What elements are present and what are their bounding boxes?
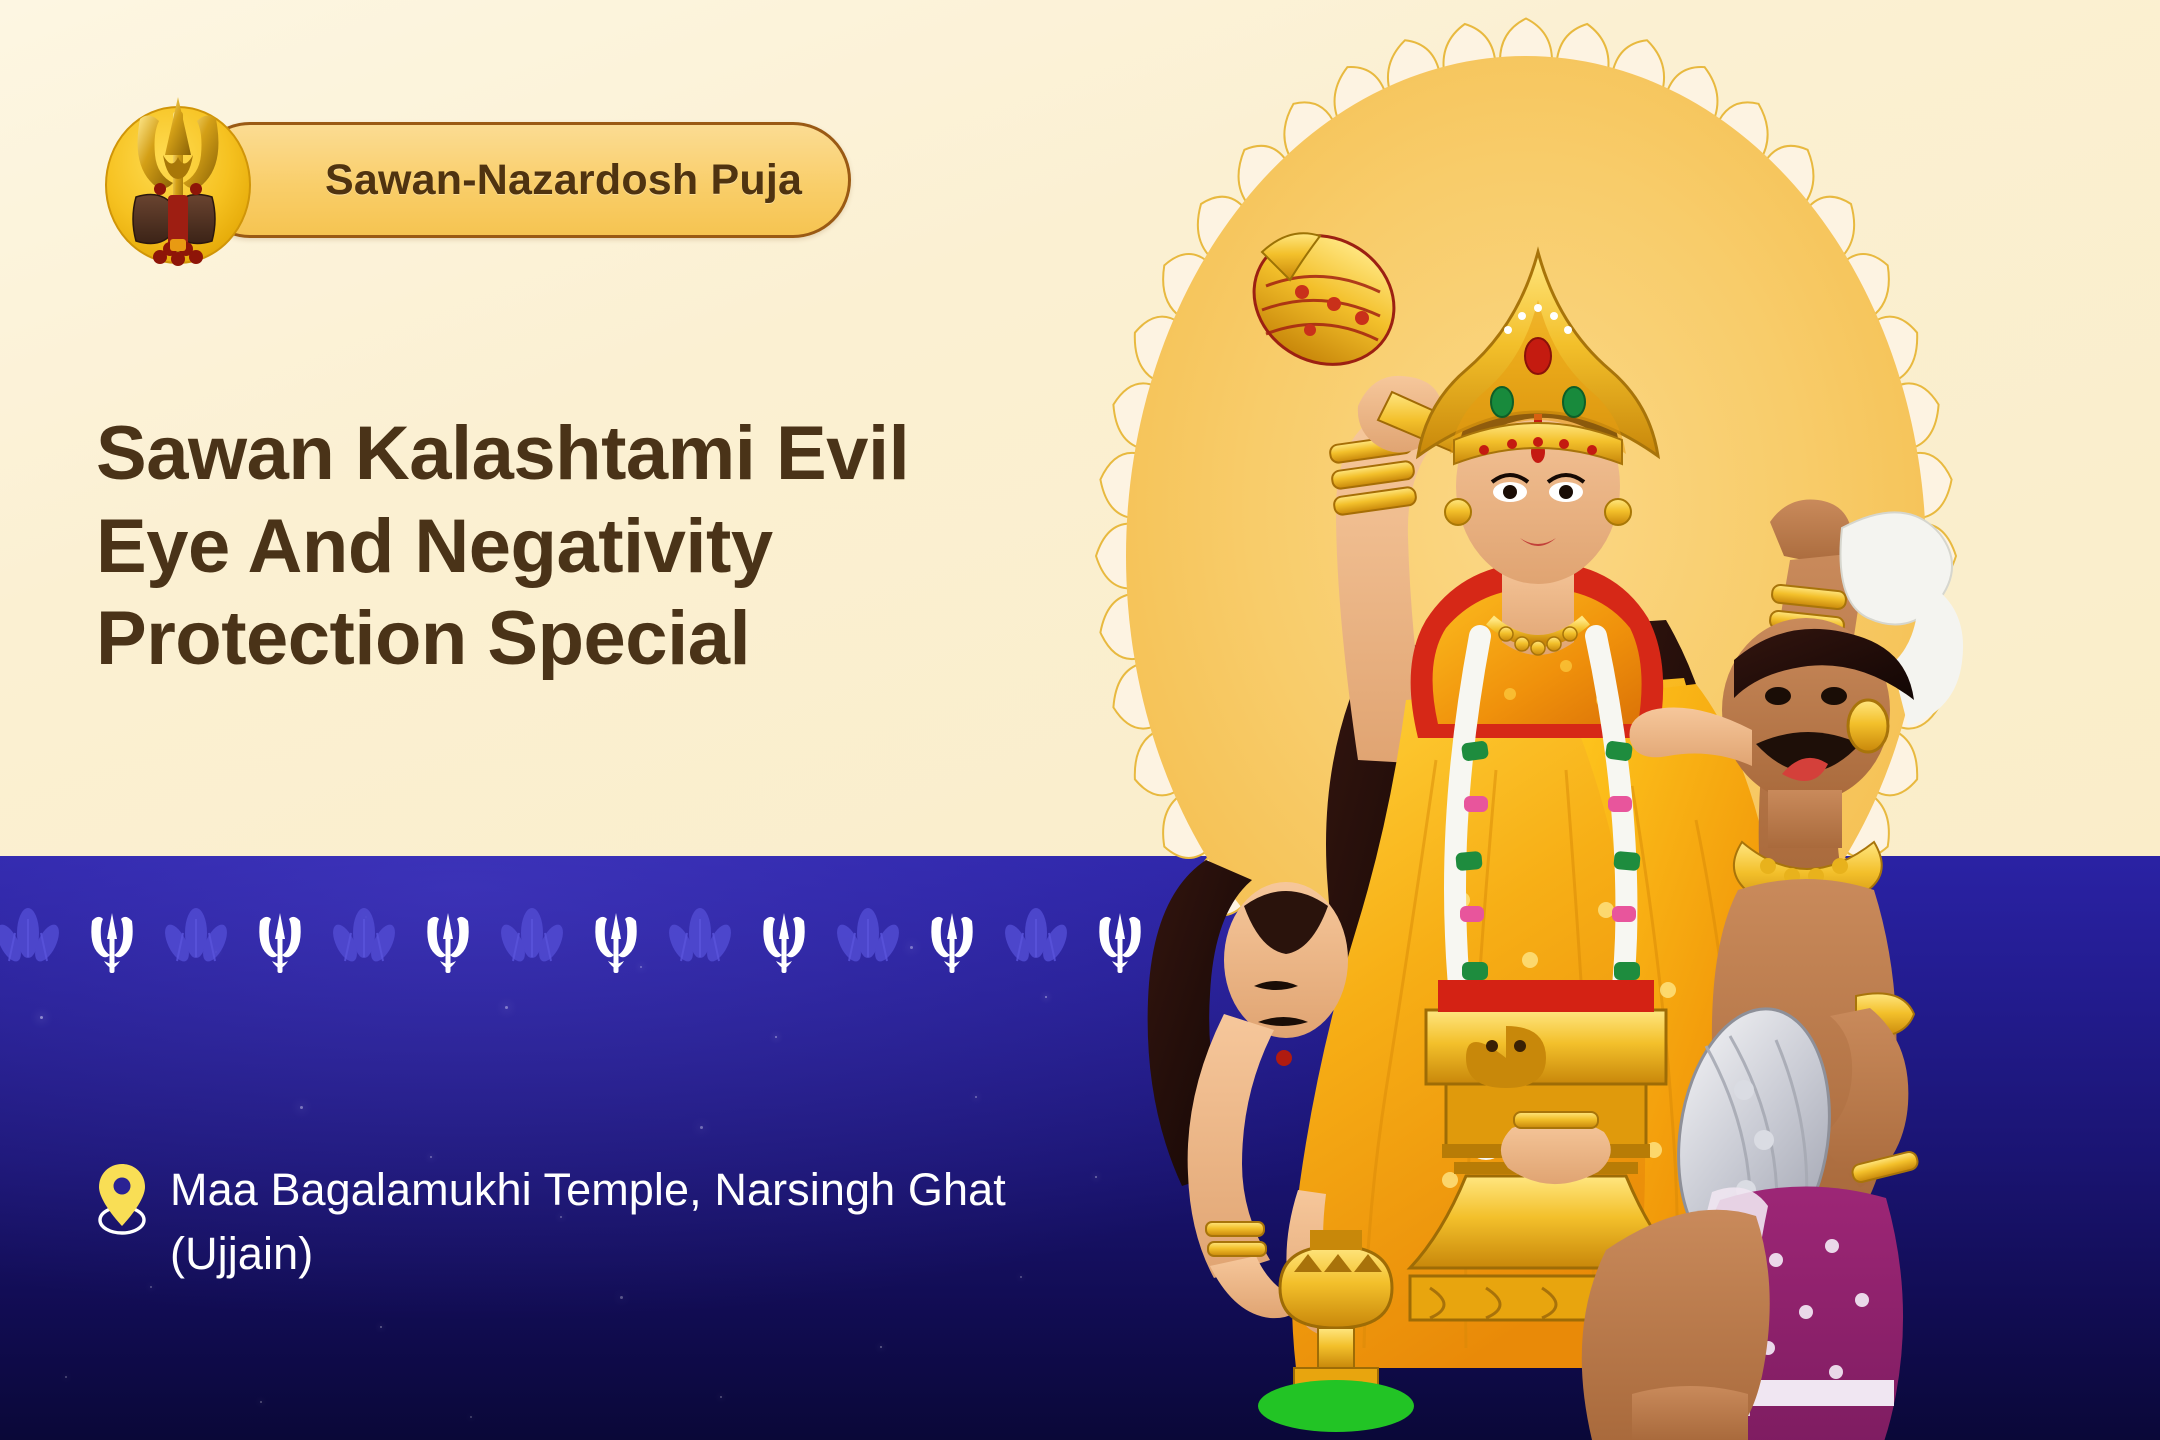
border-motif — [658, 884, 742, 984]
puja-badge-pill[interactable]: Sawan-Nazardosh Puja — [192, 122, 851, 238]
border-motif — [490, 884, 574, 984]
border-motif — [994, 884, 1078, 984]
border-motif — [826, 884, 910, 984]
lotus-leaf-icon — [497, 907, 567, 976]
trishul-icon — [1094, 913, 1146, 978]
border-motif — [154, 884, 238, 984]
trishul-lotus-border — [0, 884, 1180, 984]
border-motif — [322, 884, 406, 984]
venue-location-text: Maa Bagalamukhi Temple, Narsingh Ghat (U… — [170, 1158, 1006, 1286]
location-pin-icon — [96, 1162, 148, 1241]
lotus-leaf-icon — [329, 907, 399, 976]
trishul-icon — [926, 913, 978, 978]
trishul-icon — [758, 913, 810, 978]
border-motif — [70, 884, 154, 984]
trishul-icon — [422, 913, 474, 978]
venue-location: Maa Bagalamukhi Temple, Narsingh Ghat (U… — [96, 1158, 1106, 1286]
trishul-icon — [86, 913, 138, 978]
puja-badge-label: Sawan-Nazardosh Puja — [325, 156, 802, 205]
border-motif — [1078, 884, 1162, 984]
headline-line-1: Sawan Kalashtami Evil — [96, 408, 1056, 501]
lotus-leaf-icon — [833, 907, 903, 976]
border-motif — [574, 884, 658, 984]
venue-line-2: (Ujjain) — [170, 1222, 1006, 1286]
lotus-leaf-icon — [1001, 907, 1071, 976]
page-title: Sawan Kalashtami Evil Eye And Negativity… — [96, 408, 1056, 686]
puja-badge[interactable]: Sawan-Nazardosh Puja — [100, 122, 851, 238]
lotus-leaf-icon — [161, 907, 231, 976]
puja-promo-banner: Sawan-Nazardosh Puja — [0, 0, 2160, 1440]
border-motif — [238, 884, 322, 984]
border-motif — [406, 884, 490, 984]
venue-line-1: Maa Bagalamukhi Temple, Narsingh Ghat — [170, 1158, 1006, 1222]
trishul-icon — [590, 913, 642, 978]
headline-line-3: Protection Special — [96, 593, 1056, 686]
border-motif — [910, 884, 994, 984]
border-motif — [0, 884, 70, 984]
lotus-leaf-icon — [665, 907, 735, 976]
trishul-icon — [254, 913, 306, 978]
trishul-damru-medallion-icon — [100, 89, 256, 271]
lotus-leaf-icon — [0, 907, 63, 976]
headline-line-2: Eye And Negativity — [96, 501, 1056, 594]
border-motif — [742, 884, 826, 984]
